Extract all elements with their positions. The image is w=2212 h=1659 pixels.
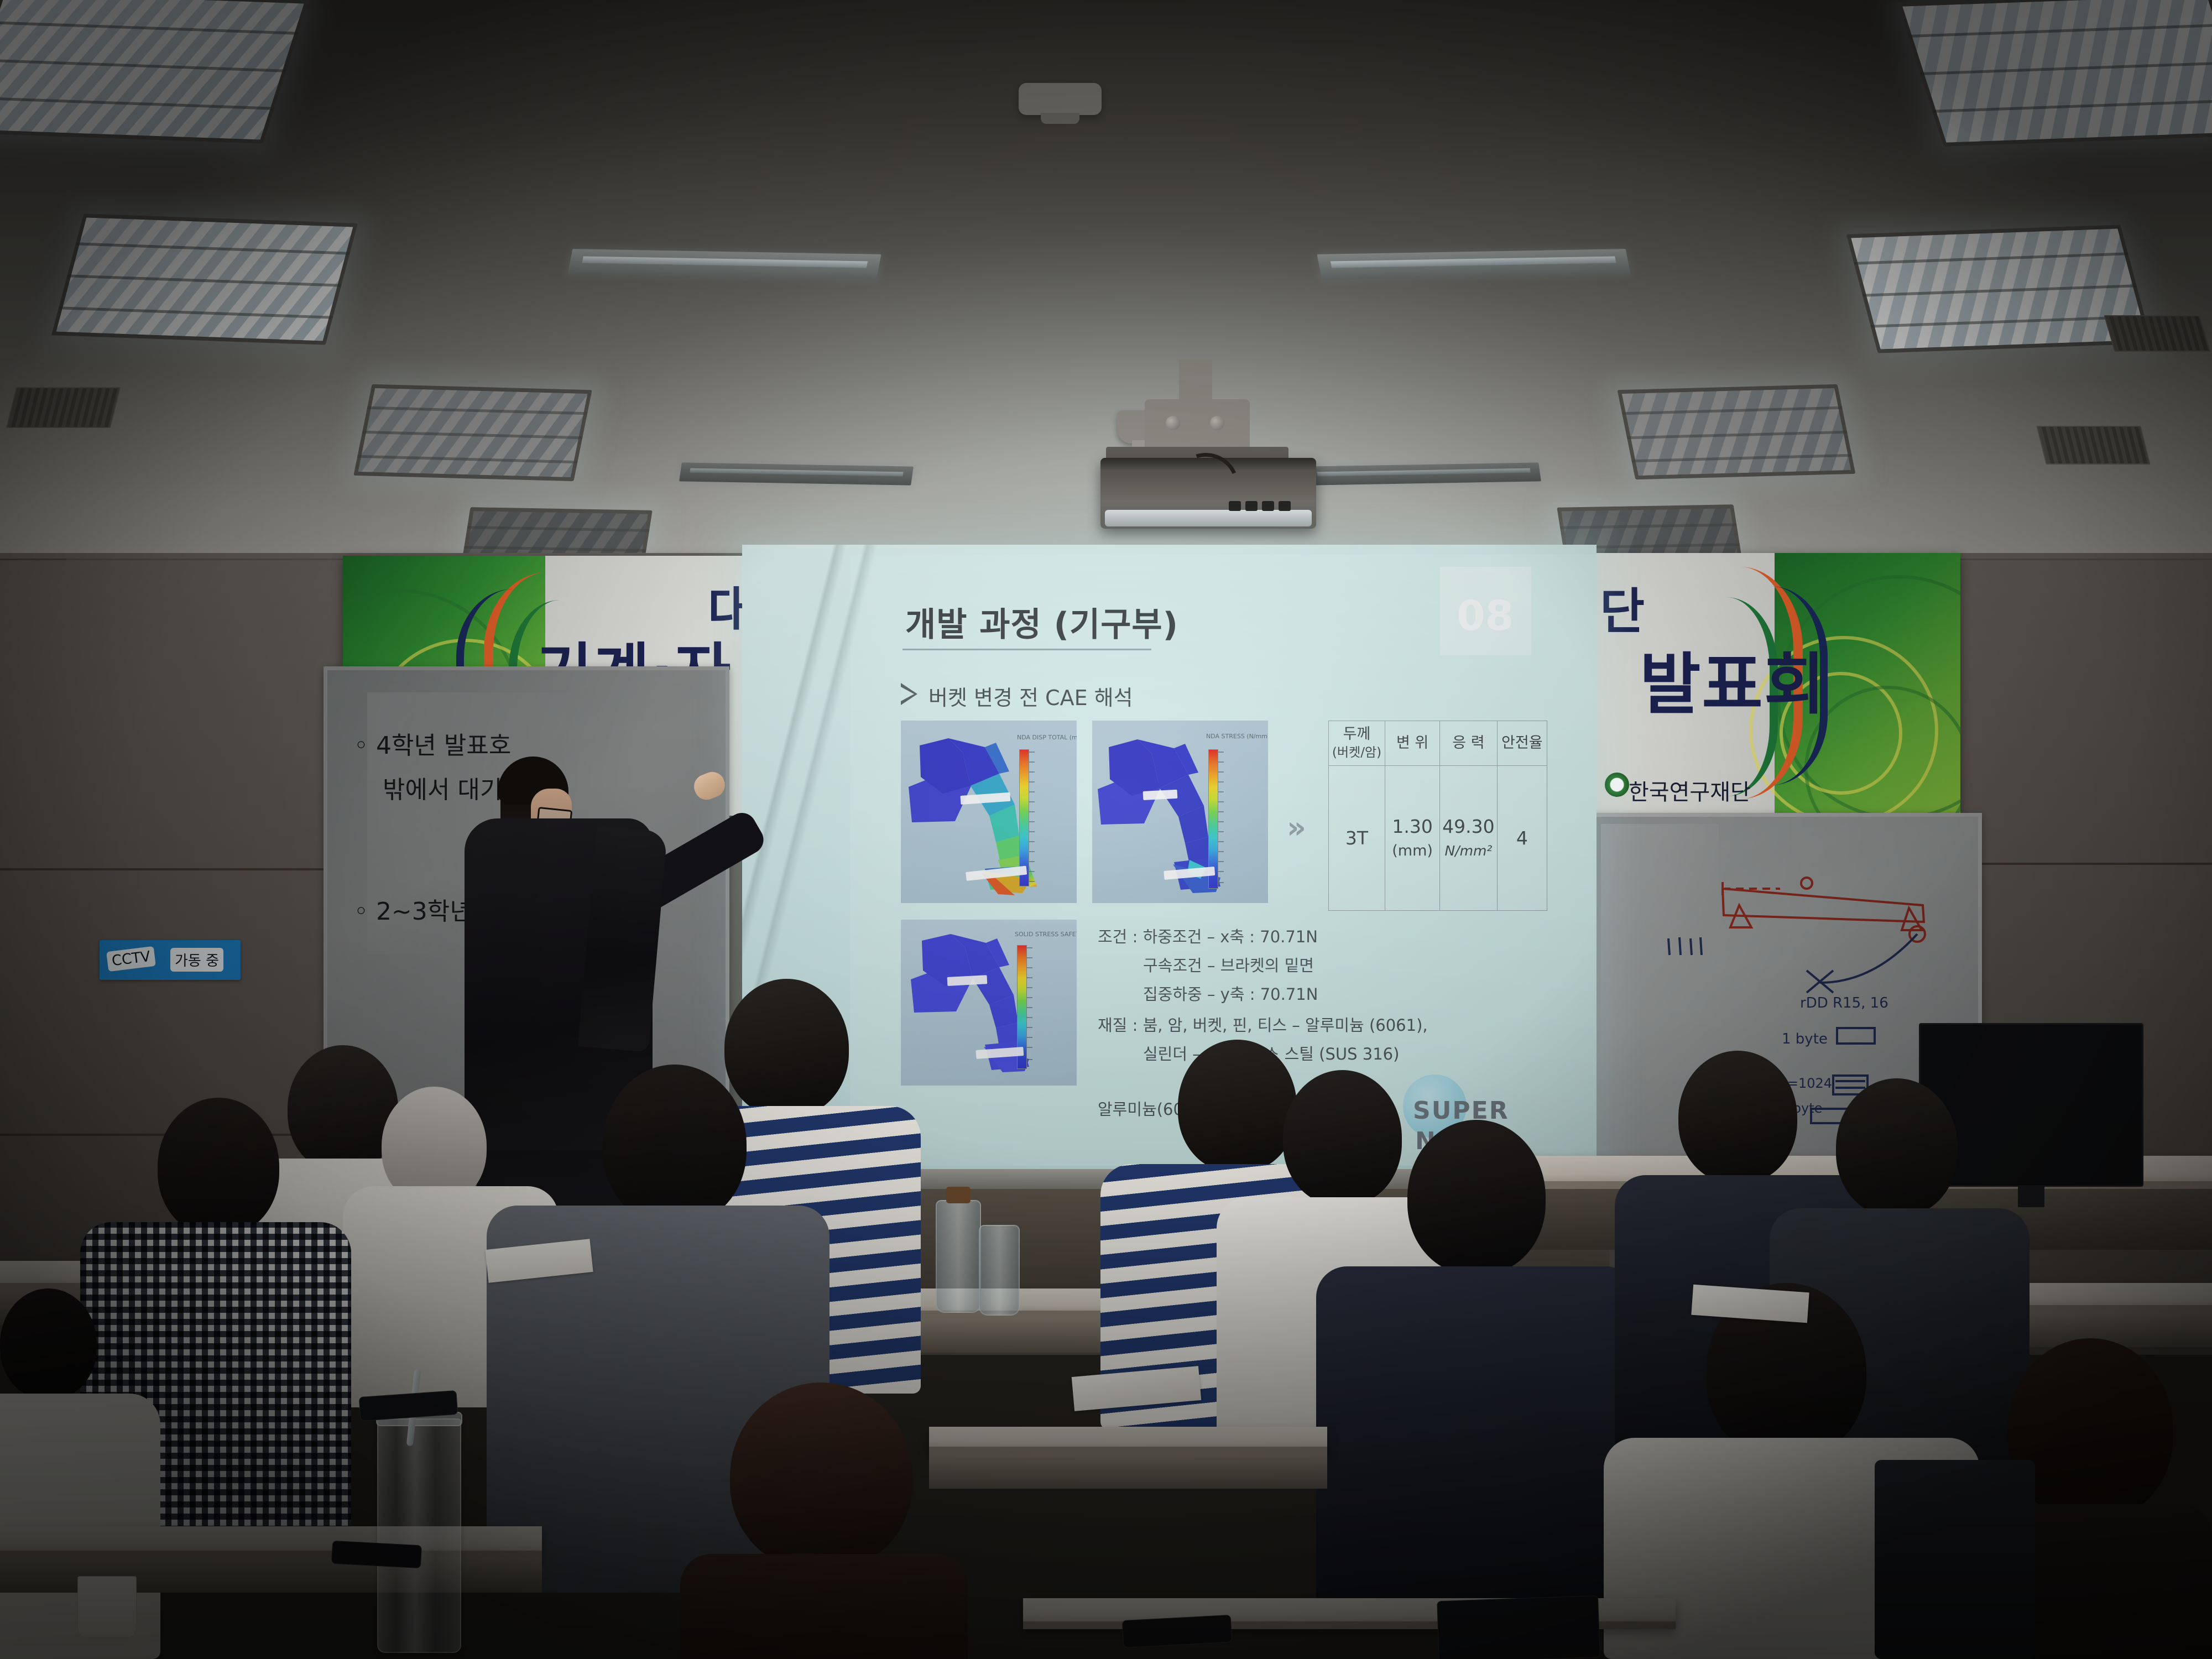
condition-line-3: 집중하중 – y축 : 70.71N bbox=[1143, 982, 1318, 1008]
cctv-sign-label-ko: 가동 중 bbox=[170, 948, 223, 972]
tablet-device[interactable] bbox=[1437, 1595, 1600, 1659]
person-head bbox=[1407, 1120, 1546, 1275]
person-head bbox=[1283, 1070, 1402, 1206]
ceiling-light-panel bbox=[0, 0, 309, 144]
whiteboard-left-line1: ◦ 4학년 발표호 bbox=[354, 726, 511, 761]
projector-mount-bracket bbox=[1145, 399, 1250, 450]
cae-legend-title: SOLID STRESS SAFETY FACT (Type) bbox=[1015, 931, 1077, 938]
ceiling-slim-light bbox=[567, 249, 881, 280]
ceiling-slim-light bbox=[679, 462, 914, 485]
cae-legend-title: NDA STRESS (N/mm²) bbox=[1206, 733, 1268, 740]
ceiling-light-panel bbox=[51, 213, 358, 345]
chair-back bbox=[1875, 1460, 2035, 1659]
smartphone[interactable] bbox=[1122, 1615, 1232, 1648]
water-bottle bbox=[936, 1200, 981, 1313]
whiteboard-left-line2: 밖에서 대기 bbox=[383, 770, 502, 805]
person-head bbox=[1836, 1078, 1958, 1217]
event-banner-right: 단 발표회 한국연구재단 bbox=[1573, 553, 1960, 813]
cctv-sign: CCTV 가동 중 bbox=[100, 940, 241, 980]
cctv-sign-label-en: CCTV bbox=[106, 946, 156, 972]
cae-legend-ticks bbox=[1218, 749, 1260, 888]
foundation-emblem-icon bbox=[1604, 771, 1630, 798]
lecture-hall-photo: 기계·자 대 주최 : 대구대 단 발표회 한국연구재단 ◦ 4학년 발표호 밖… bbox=[0, 0, 2212, 1659]
slide-title: 개발 과정 (기구부) bbox=[905, 598, 1178, 646]
banner-right-edge-char: 단 bbox=[1600, 572, 1646, 643]
condition-line-2: 구속조건 – 브라켓의 밑면 bbox=[1143, 953, 1314, 979]
ceiling-light-panel bbox=[1618, 384, 1856, 479]
table-header-row: 두께 (버켓/암) 변 위 응 력 안전율 bbox=[1329, 721, 1547, 766]
wood-wall-panel bbox=[0, 559, 66, 1277]
person-torso bbox=[680, 1554, 968, 1659]
drink-tumbler bbox=[377, 1418, 461, 1653]
condition-line-4: 재질 : 붐, 암, 버켓, 핀, 티스 – 알루미늄 (6061), bbox=[1098, 1013, 1428, 1039]
table-header-safety: 안전율 bbox=[1497, 721, 1547, 766]
projector-lens-bar bbox=[1105, 510, 1312, 526]
person-head bbox=[724, 979, 849, 1117]
condition-line-1: 조건 : 하중조건 – x축 : 70.71N bbox=[1098, 924, 1318, 950]
water-bottle bbox=[979, 1225, 1020, 1316]
svg-text:rDD R15, 16: rDD R15, 16 bbox=[1800, 995, 1888, 1011]
cae-image-displacement: NDA DISP TOTAL (m) bbox=[901, 721, 1077, 903]
ceiling-slim-light bbox=[1317, 249, 1630, 280]
slide-title-underline bbox=[902, 649, 1151, 650]
ceiling-light-panel bbox=[1846, 225, 2152, 353]
svg-text:1 byte: 1 byte bbox=[1782, 1031, 1828, 1047]
smartphone[interactable] bbox=[331, 1541, 422, 1568]
person-head bbox=[1678, 1051, 1797, 1183]
audience-table-mid bbox=[929, 1427, 1327, 1454]
ceiling-air-vent bbox=[6, 387, 121, 428]
ceiling-air-vent bbox=[2036, 426, 2150, 465]
banner-right-title: 발표회 bbox=[1640, 630, 1826, 727]
cell-thickness: 3T bbox=[1329, 765, 1385, 910]
cae-image-stress: NDA STRESS (N/mm²) bbox=[1092, 721, 1268, 903]
table-header-displacement: 변 위 bbox=[1385, 721, 1440, 766]
ceiling-light-panel bbox=[1897, 0, 2212, 147]
person-torso bbox=[1316, 1266, 1637, 1609]
cae-legend-title: NDA DISP TOTAL (m) bbox=[1017, 734, 1077, 741]
slide-bullet: 버켓 변경 전 CAE 해석 bbox=[928, 681, 1133, 711]
projection-screen: 08 개발 과정 (기구부) 버켓 변경 전 CAE 해석 bbox=[742, 545, 1597, 1175]
table-header-stress: 응 력 bbox=[1440, 721, 1497, 766]
cae-legend-ticks bbox=[1027, 945, 1069, 1068]
ceiling-light-panel bbox=[353, 384, 592, 481]
person-head bbox=[730, 1383, 912, 1571]
banner-right-sponsor: 한국연구재단 bbox=[1629, 774, 1751, 806]
cae-legend-ticks bbox=[1029, 749, 1069, 885]
results-table: 두께 (버켓/암) 변 위 응 력 안전율 3T 1.30 bbox=[1328, 721, 1547, 911]
chevron-right-icon: » bbox=[1287, 810, 1298, 845]
cell-stress: 49.30 N/mm² bbox=[1440, 765, 1497, 910]
table-row: 3T 1.30 (mm) 49.30 N/mm² 4 bbox=[1329, 765, 1547, 910]
table-header-thickness: 두께 (버켓/암) bbox=[1329, 721, 1385, 766]
paper-cup bbox=[77, 1576, 137, 1638]
smoke-detector-icon bbox=[1019, 83, 1102, 115]
person-head bbox=[1178, 1040, 1297, 1172]
projector-mount-pole bbox=[1179, 359, 1212, 403]
slide-number: 08 bbox=[1457, 592, 1514, 640]
supernova-logo-line1: SUPER bbox=[1413, 1097, 1509, 1125]
person-head bbox=[603, 1065, 747, 1225]
cae-callout bbox=[1143, 790, 1178, 800]
cell-displacement: 1.30 (mm) bbox=[1385, 765, 1440, 910]
projected-slide-surface: 08 개발 과정 (기구부) 버켓 변경 전 CAE 해석 bbox=[742, 545, 1597, 1175]
ceiling-air-vent bbox=[2104, 315, 2211, 352]
cell-safety-factor: 4 bbox=[1497, 765, 1547, 910]
person-head bbox=[158, 1098, 279, 1236]
cae-image-safety-factor: SOLID STRESS SAFETY FACT (Type) bbox=[901, 920, 1077, 1086]
bullet-arrow-icon bbox=[901, 683, 917, 705]
person-head bbox=[0, 1288, 97, 1399]
